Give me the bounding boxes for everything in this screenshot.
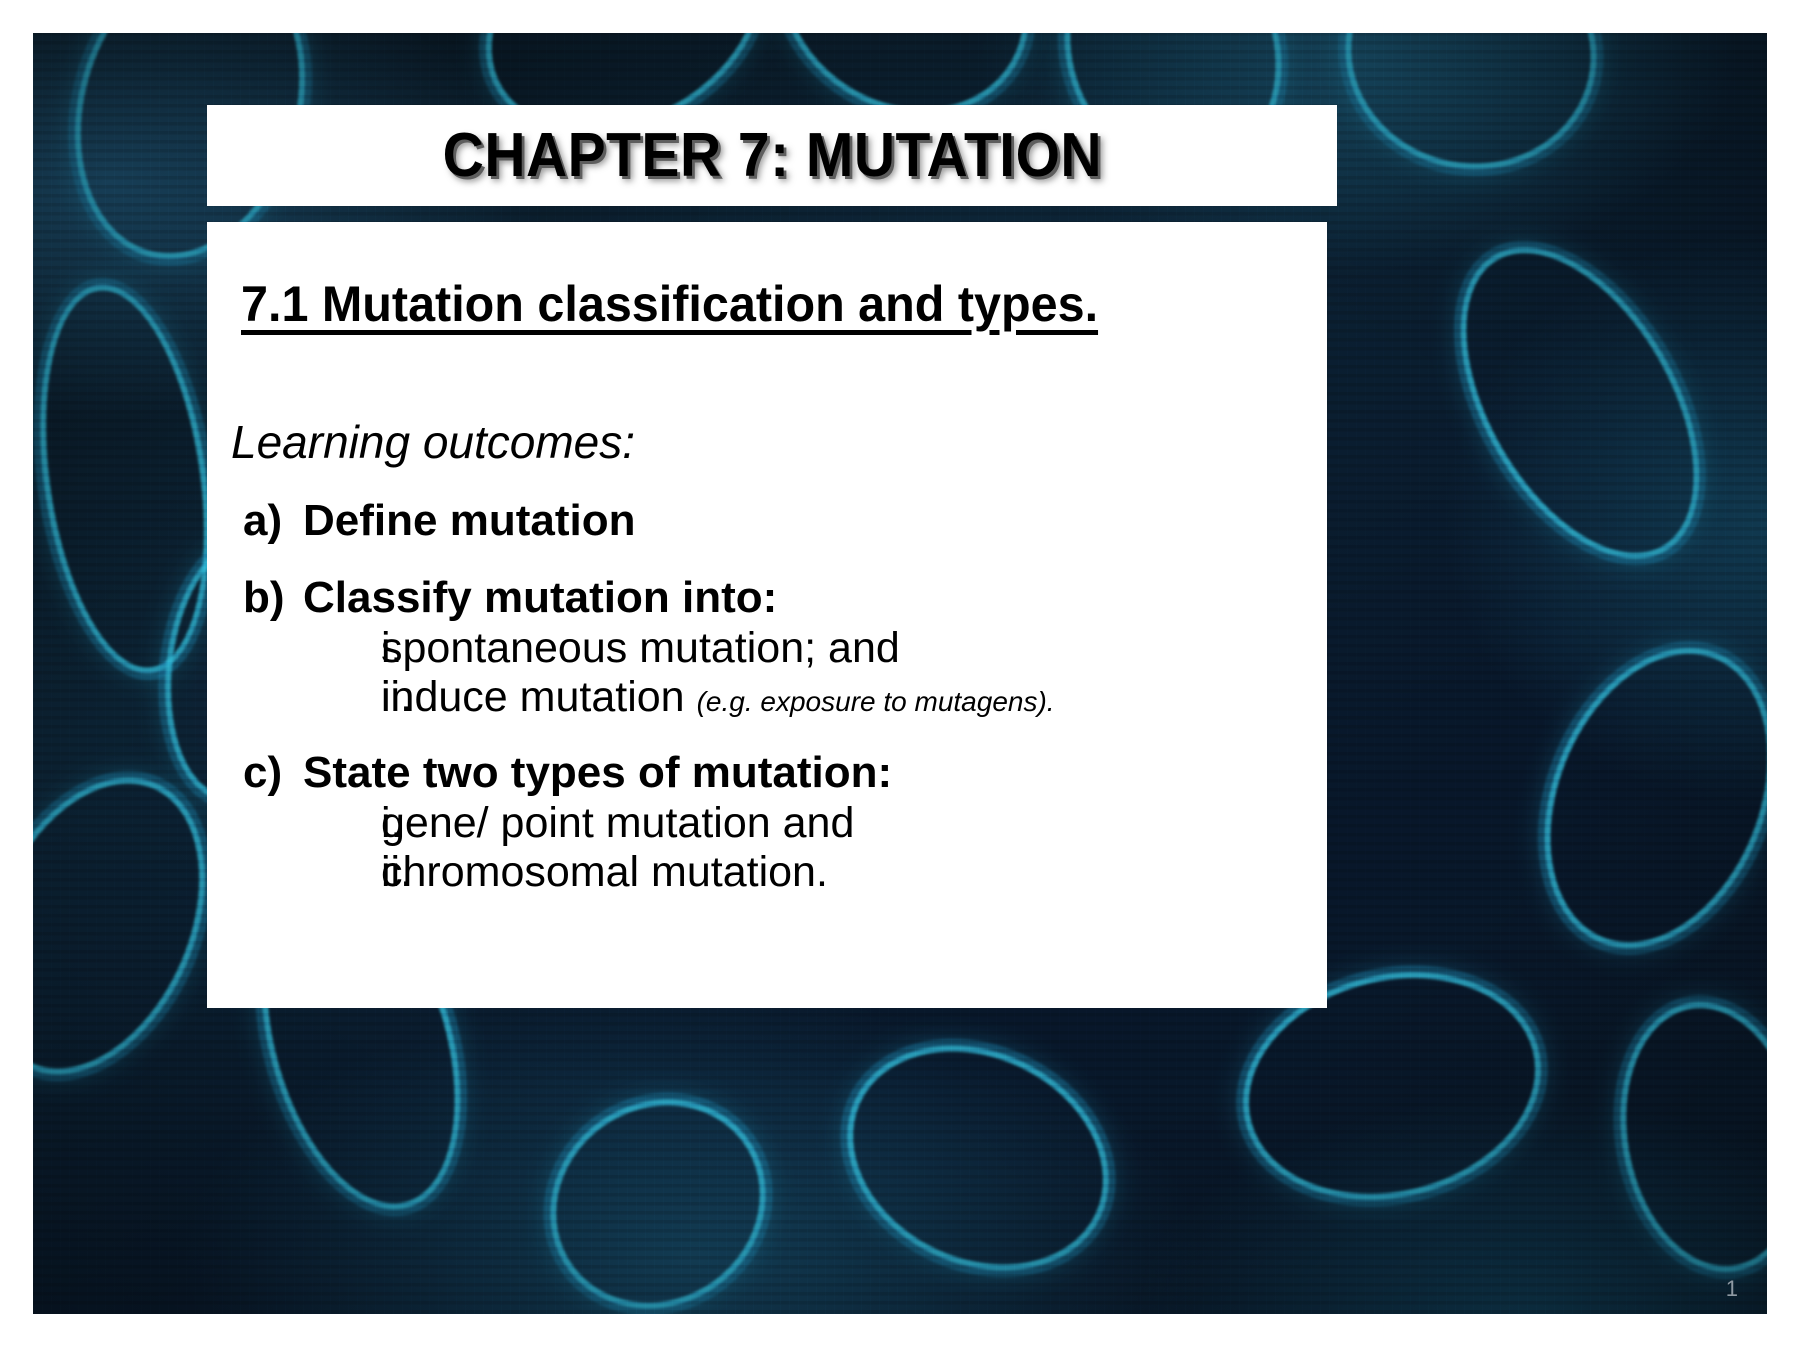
presentation-slide: CHAPTER 7: MUTATION 7.1 Mutation classif… bbox=[0, 0, 1800, 1350]
outcome-marker: a) bbox=[229, 495, 303, 547]
list-item: a) Define mutation bbox=[229, 495, 1307, 547]
outcome-marker: c) bbox=[229, 747, 303, 799]
outcome-label: State two types of mutation: bbox=[303, 747, 892, 799]
list-item: b) Classify mutation into: i. spontaneou… bbox=[229, 572, 1307, 721]
outcome-a: a) Define mutation bbox=[229, 495, 1307, 547]
spacer bbox=[229, 550, 1307, 572]
subitem-text: chromosomal mutation. bbox=[381, 848, 828, 897]
list-item: ii. chromosomal mutation. bbox=[229, 848, 1307, 897]
outcome-label: Define mutation bbox=[303, 495, 635, 547]
outcome-b-sublist: i. spontaneous mutation; and ii. induce … bbox=[229, 624, 1307, 721]
outcome-marker: b) bbox=[229, 572, 303, 624]
list-item: i. spontaneous mutation; and bbox=[229, 624, 1307, 673]
list-item: c) State two types of mutation: i. gene/… bbox=[229, 747, 1307, 896]
slide-page-number: 1 bbox=[1726, 1276, 1738, 1302]
spacer bbox=[229, 725, 1307, 747]
slide-title-box: CHAPTER 7: MUTATION bbox=[207, 105, 1337, 206]
subitem-text: spontaneous mutation; and bbox=[381, 624, 900, 673]
outcome-b: b) Classify mutation into: bbox=[229, 572, 1307, 624]
section-heading: 7.1 Mutation classification and types. bbox=[241, 278, 1275, 331]
list-item: i. gene/ point mutation and bbox=[229, 799, 1307, 848]
subitem-text: induce mutation bbox=[381, 673, 685, 722]
slide-content-box: 7.1 Mutation classification and types. L… bbox=[207, 222, 1327, 1008]
outcome-c: c) State two types of mutation: bbox=[229, 747, 1307, 799]
subitem-marker: ii. bbox=[229, 673, 381, 722]
subitem-text: gene/ point mutation and bbox=[381, 799, 854, 848]
subitem-note: (e.g. exposure to mutagens). bbox=[697, 686, 1055, 718]
subitem-marker: i. bbox=[229, 799, 381, 848]
subitem-marker: ii. bbox=[229, 848, 381, 897]
learning-outcomes-list: a) Define mutation b) Classify mutation … bbox=[229, 495, 1307, 897]
learning-outcomes-label: Learning outcomes: bbox=[231, 419, 1307, 465]
subitem-marker: i. bbox=[229, 624, 381, 673]
outcome-c-sublist: i. gene/ point mutation and ii. chromoso… bbox=[229, 799, 1307, 896]
slide-title: CHAPTER 7: MUTATION bbox=[442, 125, 1101, 187]
list-item: ii. induce mutation (e.g. exposure to mu… bbox=[229, 673, 1307, 722]
outcome-label: Classify mutation into: bbox=[303, 572, 777, 624]
